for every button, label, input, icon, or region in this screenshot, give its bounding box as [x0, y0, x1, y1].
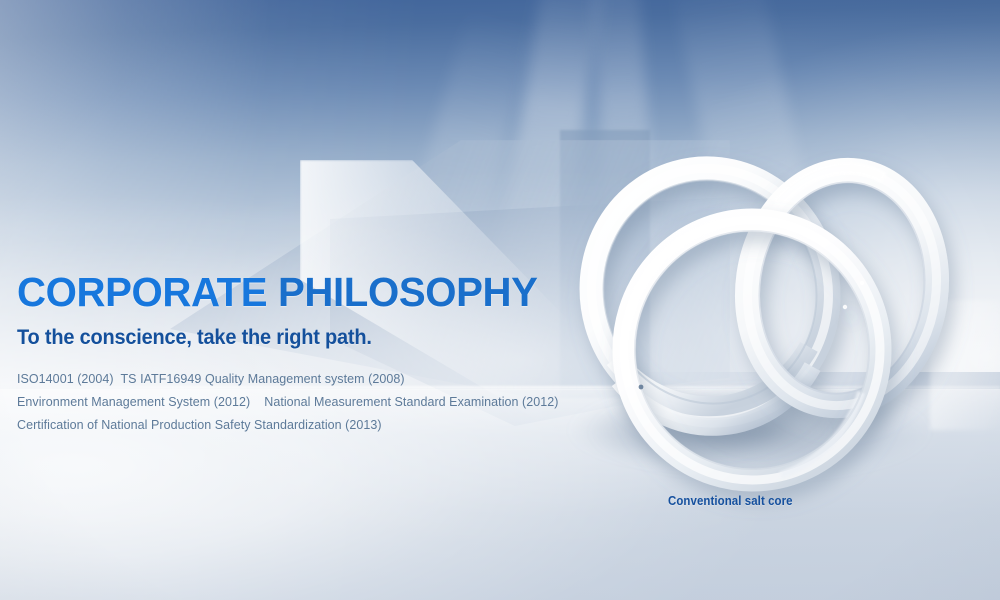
page-title: CORPORATE PHILOSOPHY: [17, 272, 644, 313]
certification-line: ISO14001 (2004) TS IATF16949 Quality Man…: [17, 368, 657, 391]
page-title-word-corporate: CORPORATE: [17, 269, 267, 315]
philosophy-text-block: CORPORATE PHILOSOPHY To the conscience, …: [17, 272, 657, 437]
corporate-philosophy-banner: CORPORATE PHILOSOPHY To the conscience, …: [0, 0, 1000, 600]
certification-line: Environment Management System (2012) Nat…: [17, 391, 657, 414]
page-subtitle: To the conscience, take the right path.: [17, 326, 625, 350]
certification-line: Certification of National Production Saf…: [17, 414, 657, 437]
page-title-space: [267, 269, 278, 315]
product-caption: Conventional salt core: [668, 493, 793, 508]
page-title-word-philosophy: PHILOSOPHY: [278, 269, 538, 315]
certifications-list: ISO14001 (2004) TS IATF16949 Quality Man…: [17, 368, 657, 437]
